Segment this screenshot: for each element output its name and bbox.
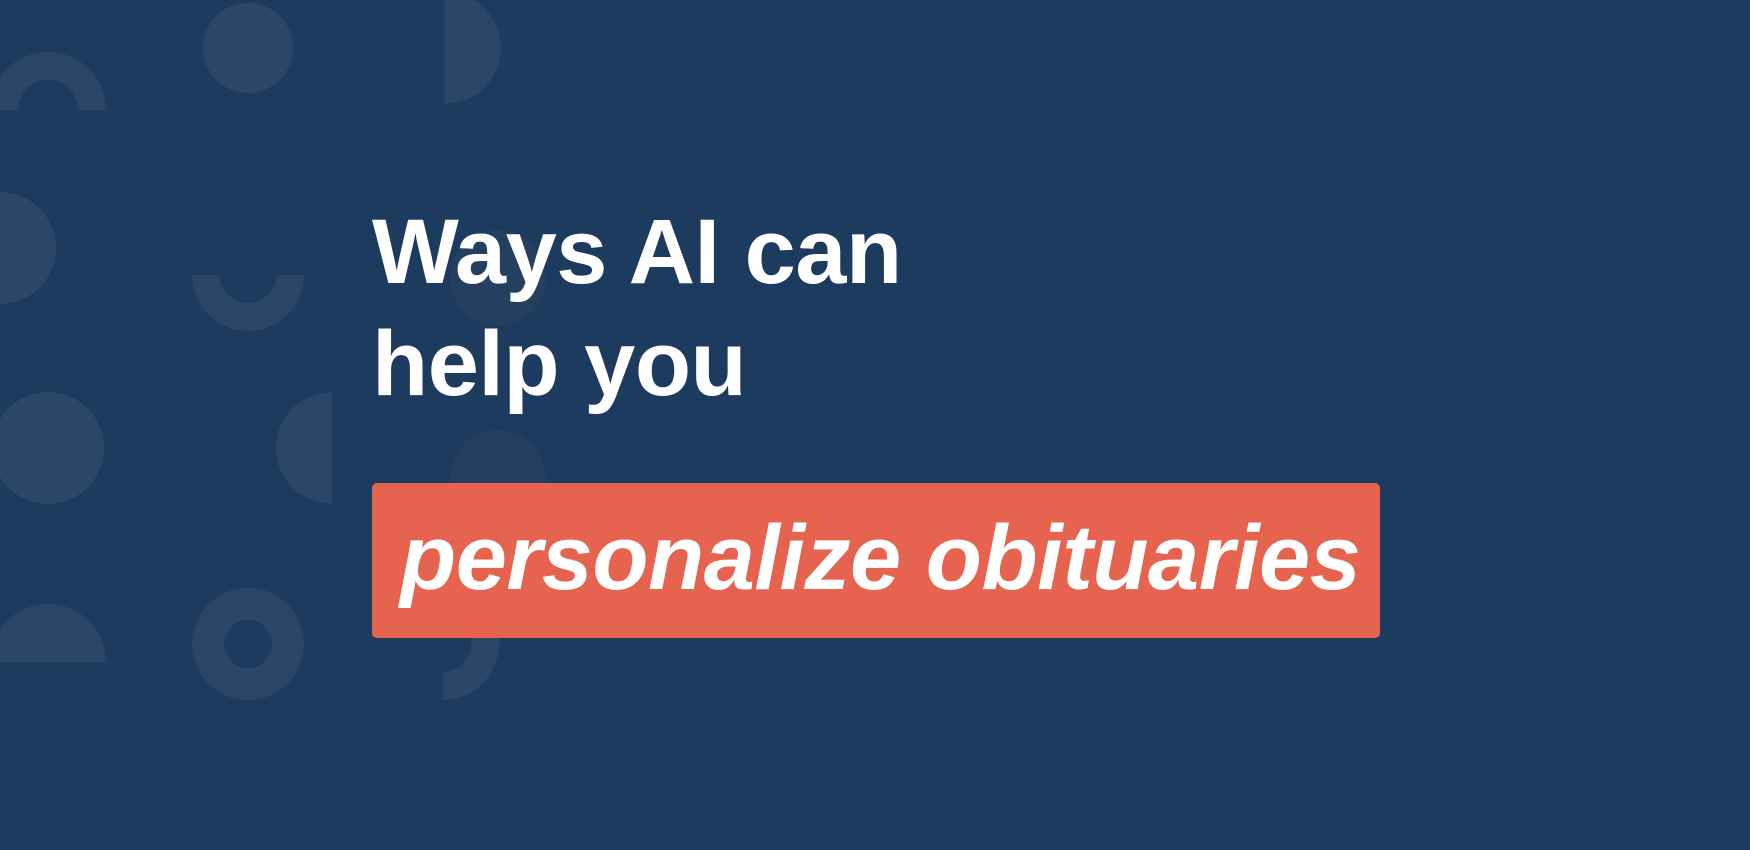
donut-bottom-row-icon [192, 588, 304, 700]
slide-canvas: Ways AI can help you personalize obituar… [0, 0, 1750, 850]
circle-left-mid-icon [0, 392, 104, 504]
circle-top-row-1-icon [203, 3, 293, 93]
bowl-ring-mid-icon [192, 275, 304, 331]
headline: Ways AI can help you [372, 196, 1382, 420]
half-disc-top-row-2-icon [445, 0, 501, 104]
half-disc-left-upper-icon [0, 192, 56, 304]
headline-line-2: help you [372, 308, 1382, 420]
emphasis-text: personalize obituaries [372, 512, 1360, 604]
dome-bottom-left-icon [0, 604, 106, 662]
decorative-shape-layer [0, 0, 1750, 850]
half-disc-mid-right-icon [276, 392, 332, 504]
emphasis-highlight-bar: personalize obituaries [372, 483, 1380, 638]
arch-ring-top-left-icon [0, 52, 106, 110]
headline-line-1: Ways AI can [372, 196, 1382, 308]
